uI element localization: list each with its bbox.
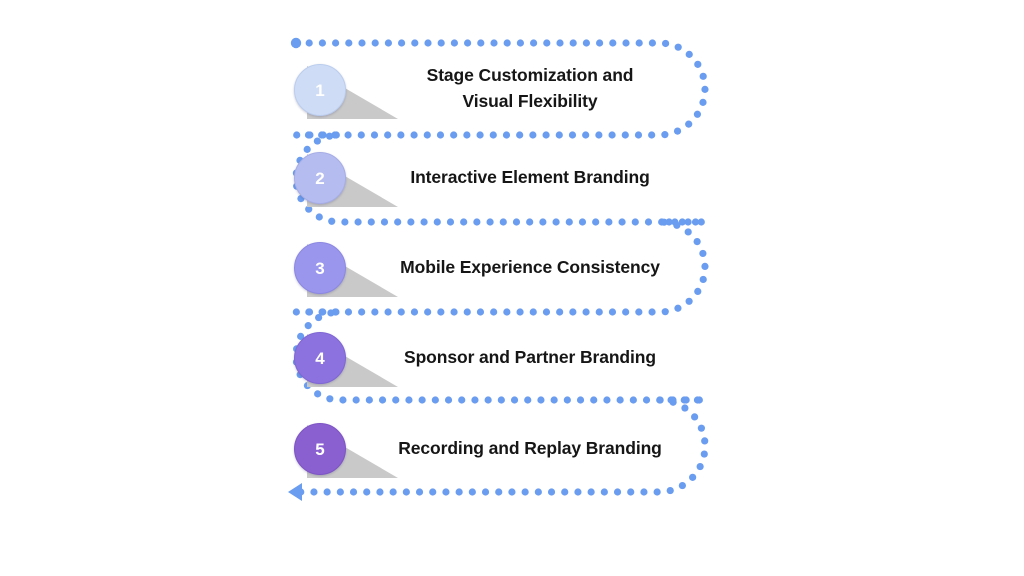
step-shadow (0, 0, 1024, 576)
step-label-5: Recording and Replay Branding (320, 435, 740, 461)
diagram-canvas: 1Stage Customization and Visual Flexibil… (0, 0, 1024, 576)
